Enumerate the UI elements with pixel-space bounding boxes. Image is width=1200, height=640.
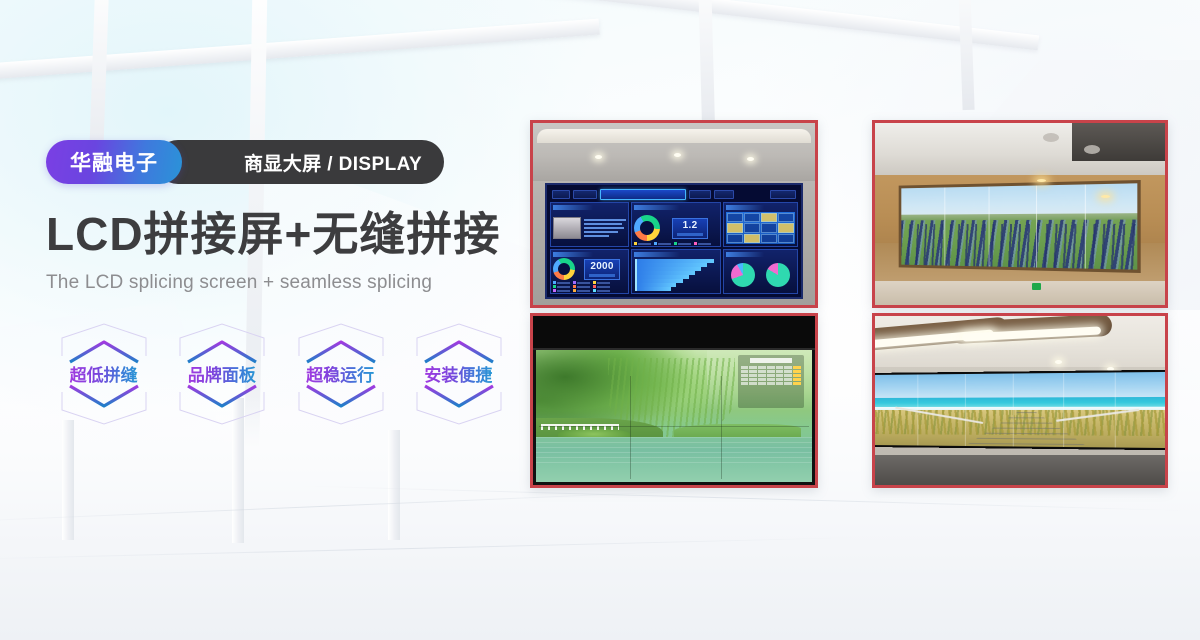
dashboard-panel-pies	[723, 249, 798, 294]
product-photo-beach-boardwalk-wall[interactable]	[872, 313, 1168, 488]
ceiling-light	[595, 155, 602, 159]
corridor-floor	[875, 281, 1165, 305]
flow-diagram	[726, 212, 795, 244]
pie-chart	[766, 263, 790, 287]
video-wall-screen	[875, 370, 1165, 451]
feature-badge: 超稳运行	[283, 320, 398, 428]
dashboard-panel-donut-count: 2000	[550, 249, 629, 294]
ceiling-beam-horizontal-2	[521, 0, 1039, 50]
dashboard-panel-flowmap	[723, 202, 798, 247]
dashboard-panel-donut-metric: 1.2	[631, 202, 721, 247]
brand-badge: 商显大屏 / DISPLAY 华融电子	[46, 140, 516, 184]
feature-badge: 超低拼缝	[46, 320, 161, 428]
wall-upper-dark-band	[533, 316, 815, 350]
floor-line-2	[0, 537, 860, 560]
feature-badge-label: 超稳运行	[306, 361, 374, 386]
feature-badge: 安装便捷	[401, 320, 516, 428]
donut-chart	[553, 258, 575, 280]
pie-chart	[731, 263, 755, 287]
dashboard-title-chip	[600, 189, 686, 200]
dashboard-topbar	[550, 188, 798, 200]
feature-badge-label: 品牌面板	[188, 361, 256, 386]
banner-content: 商显大屏 / DISPLAY 华融电子 LCD拼接屏+无缝拼接 The LCD …	[46, 140, 516, 428]
product-photo-corridor-solar-wall[interactable]	[872, 120, 1168, 308]
ceiling-cove	[537, 129, 811, 143]
ceiling-beam-vertical-4	[957, 0, 974, 110]
wall-post-c	[388, 430, 400, 540]
wall-post-a	[62, 420, 74, 540]
feature-badge: 品牌面板	[164, 320, 279, 428]
product-photo-willow-lake-wall[interactable]	[530, 313, 818, 488]
dashboard-panel-intro	[550, 202, 629, 247]
lake-image-water	[536, 437, 812, 482]
calendar-widget	[738, 355, 804, 408]
pie-chart-group	[726, 259, 795, 291]
calendar-grid	[741, 366, 801, 385]
dashboard-panel-barchart	[631, 249, 721, 294]
solar-image-panel-field	[901, 220, 1137, 270]
exit-sign-icon	[1032, 283, 1041, 290]
brand-category-label: 商显大屏 / DISPLAY	[156, 140, 444, 184]
ceiling-beam-horizontal-1	[0, 19, 600, 82]
ceiling-downlight	[1055, 360, 1062, 364]
ceiling-vent	[1084, 145, 1100, 154]
floor-line-1	[0, 490, 700, 523]
floor-line-3	[300, 485, 1200, 511]
brand-name-label: 华融电子	[46, 140, 182, 184]
feature-badge-label: 安装便捷	[424, 361, 492, 386]
feature-badge-label: 超低拼缝	[70, 361, 138, 386]
ceiling-light	[674, 153, 681, 157]
video-wall-screen: 1.2	[545, 183, 803, 299]
metric-value: 1.2	[683, 221, 698, 231]
product-photo-dashboard-wall[interactable]: 1.2	[530, 120, 818, 308]
feature-badge-list: 超低拼缝 品牌面板	[46, 320, 516, 428]
bar-chart	[635, 259, 717, 291]
promo-banner: 商显大屏 / DISPLAY 华融电子 LCD拼接屏+无缝拼接 The LCD …	[0, 0, 1200, 640]
donut-chart	[634, 215, 660, 241]
page-title: LCD拼接屏+无缝拼接	[46, 210, 516, 260]
metric-value: 2000	[590, 262, 613, 272]
corridor-ceiling-recess	[1072, 123, 1165, 161]
hall-floor	[875, 455, 1165, 485]
dashboard-panel-grid: 1.2	[550, 202, 798, 294]
page-subtitle: The LCD splicing screen + seamless splic…	[46, 272, 516, 294]
video-wall-screen	[536, 350, 812, 482]
beach-image	[875, 372, 1165, 449]
